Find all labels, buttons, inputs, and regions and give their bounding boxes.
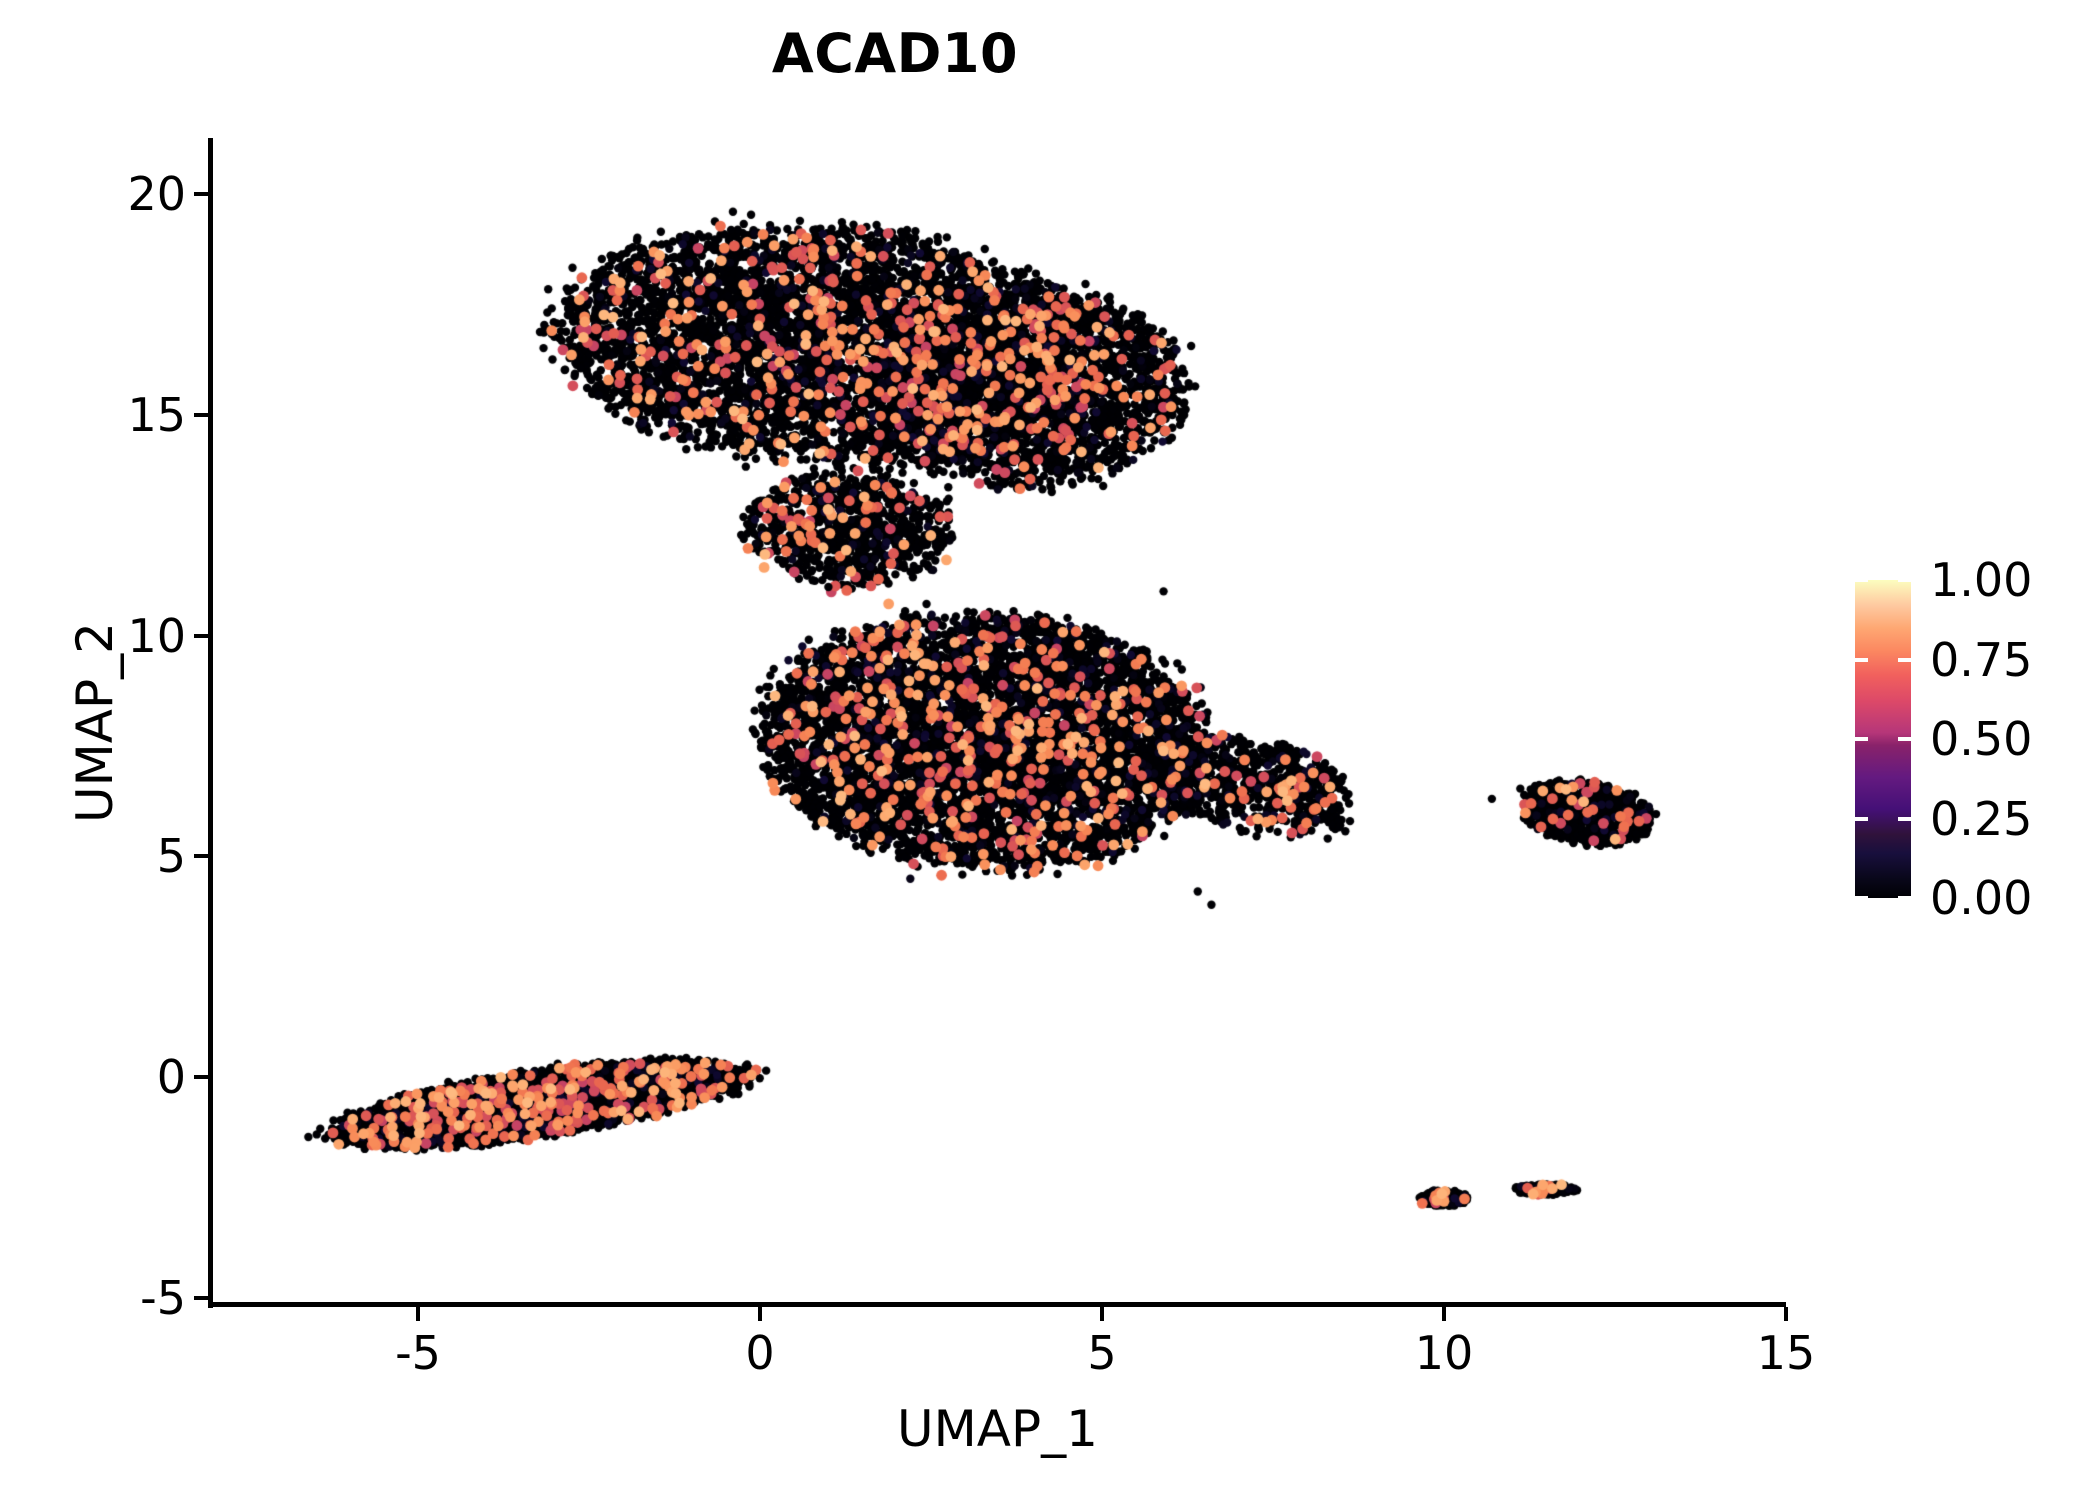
x-tick-mark xyxy=(758,1307,762,1321)
umap-feature-plot-figure: ACAD10 -505101520 -5051015 UMAP_1 UMAP_2… xyxy=(0,0,2100,1500)
colorbar-tick-mark xyxy=(1898,896,1911,900)
x-tick-mark xyxy=(1100,1307,1104,1321)
colorbar-tick-mark xyxy=(1855,658,1868,662)
colorbar-tick-mark xyxy=(1898,578,1911,582)
y-tick-mark xyxy=(194,192,208,196)
y-tick-mark xyxy=(194,1296,208,1300)
colorbar-tick-label: 0.00 xyxy=(1930,871,2032,925)
colorbar-tick-label: 0.25 xyxy=(1930,792,2032,846)
x-axis-spine xyxy=(208,1302,1786,1307)
colorbar-tick-mark xyxy=(1855,896,1868,900)
y-tick-mark xyxy=(194,1075,208,1079)
colorbar-tick-label: 0.50 xyxy=(1930,712,2032,766)
y-tick-mark xyxy=(194,634,208,638)
x-tick-mark xyxy=(1784,1307,1788,1321)
x-tick-mark xyxy=(1442,1307,1446,1321)
x-tick-label: 15 xyxy=(1757,1326,1816,1380)
y-axis-spine xyxy=(208,138,213,1308)
x-tick-label: 5 xyxy=(1087,1326,1116,1380)
y-tick-mark xyxy=(194,413,208,417)
x-tick-label: 10 xyxy=(1415,1326,1474,1380)
y-tick-mark xyxy=(194,854,208,858)
colorbar-tick-mark xyxy=(1855,737,1868,741)
colorbar-tick-label: 1.00 xyxy=(1930,553,2032,607)
x-tick-label: -5 xyxy=(395,1326,441,1380)
colorbar-tick-mark xyxy=(1898,658,1911,662)
colorbar-tick-label: 0.75 xyxy=(1930,633,2032,687)
colorbar-tick-mark xyxy=(1855,817,1868,821)
page-title: ACAD10 xyxy=(0,22,1790,85)
scatter-plot-canvas xyxy=(212,140,1783,1305)
colorbar-tick-mark xyxy=(1855,578,1868,582)
x-axis-label: UMAP_1 xyxy=(212,1400,1783,1458)
colorbar-tick-mark xyxy=(1898,817,1911,821)
y-axis-label: UMAP_2 xyxy=(66,140,124,1305)
x-tick-mark xyxy=(416,1307,420,1321)
colorbar-tick-mark xyxy=(1898,737,1911,741)
x-tick-label: 0 xyxy=(745,1326,774,1380)
